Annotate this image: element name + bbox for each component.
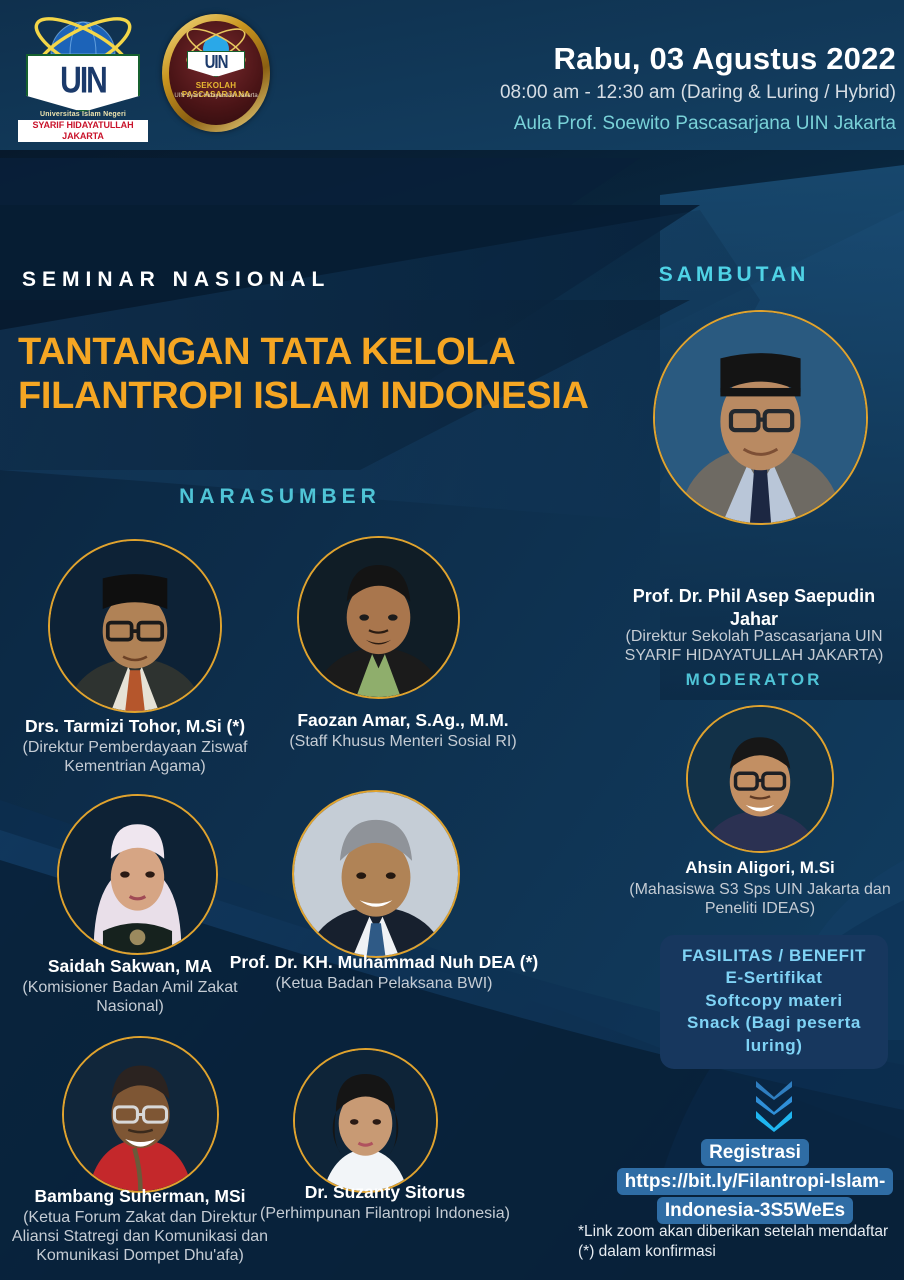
portrait-muhammad-nuh [294, 792, 458, 956]
sps-wordmark: UIN [205, 52, 228, 72]
uin-logo: UIN Universitas Islam Negeri SYARIF HIDA… [18, 6, 148, 138]
event-time: 08:00 am - 12:30 am (Daring & Luring / H… [376, 82, 896, 104]
narasumber-2-name: Faozan Amar, S.Ag., M.M. [268, 710, 538, 731]
avatar-narasumber-4 [292, 790, 460, 958]
event-meta: Rabu, 03 Agustus 2022 08:00 am - 12:30 a… [376, 42, 896, 135]
narasumber-3-role: (Komisioner Badan Amil Zakat Nasional) [0, 978, 260, 1016]
page-title: TANTANGAN TATA KELOLA FILANTROPI ISLAM I… [18, 330, 658, 418]
registration-footnote: *Link zoom akan diberikan setelah mendaf… [578, 1222, 904, 1262]
narasumber-4-role: (Ketua Badan Pelaksana BWI) [244, 974, 524, 993]
poster-header: UIN Universitas Islam Negeri SYARIF HIDA… [0, 0, 904, 170]
avatar-narasumber-1 [48, 539, 222, 713]
narasumber-5-role: (Ketua Forum Zakat dan Direktur Aliansi … [0, 1208, 280, 1266]
sps-shield: UIN [187, 51, 245, 77]
narasumber-3-name: Saidah Sakwan, MA [0, 956, 260, 977]
narasumber-6-role: (Perhimpunan Filantropi Indonesia) [250, 1204, 520, 1223]
sambutan-heading: SAMBUTAN [564, 263, 904, 287]
avatar-narasumber-6 [293, 1048, 438, 1193]
uin-wordmark: UIN [60, 60, 106, 103]
portrait-saidah-sakwan [59, 796, 216, 953]
fasilitas-item-2: Softcopy materi [668, 990, 880, 1012]
uin-caption-bottom: SYARIF HIDAYATULLAH JAKARTA [18, 120, 148, 142]
sps-logo-inner: UIN SEKOLAH PASCASARJANA UIN Syarif Hida… [169, 21, 263, 125]
sps-logo: UIN SEKOLAH PASCASARJANA UIN Syarif Hida… [158, 6, 274, 138]
narasumber-1-role: (Direktur Pemberdayaan Ziswaf Kementrian… [0, 738, 270, 776]
title-line-2: FILANTROPI ISLAM INDONESIA [18, 374, 658, 418]
registration-label: Registrasi [701, 1139, 809, 1166]
seminar-poster: UIN Universitas Islam Negeri SYARIF HIDA… [0, 0, 904, 1280]
narasumber-6-name: Dr. Suzanty Sitorus [250, 1182, 520, 1203]
moderator-name: Ahsin Aligori, M.Si [630, 858, 890, 878]
portrait-faozan-amar [299, 538, 458, 697]
sambutan-role: (Direktur Sekolah Pascasarjana UIN SYARI… [608, 627, 900, 665]
event-date: Rabu, 03 Agustus 2022 [376, 42, 896, 76]
event-venue: Aula Prof. Soewito Pascasarjana UIN Jaka… [376, 113, 896, 135]
portrait-bambang-suherman [64, 1038, 217, 1191]
registration-url-line-1[interactable]: https://bit.ly/Filantropi-Islam- [617, 1168, 894, 1195]
portrait-suzanty-sitorus [295, 1050, 436, 1191]
moderator-role: (Mahasiswa S3 Sps UIN Jakarta dan Peneli… [614, 880, 904, 918]
registration-url-line-2[interactable]: Indonesia-3S5WeEs [657, 1197, 853, 1224]
fasilitas-benefit-box: FASILITAS / BENEFIT E-Sertifikat Softcop… [660, 935, 888, 1069]
seminar-kicker: SEMINAR NASIONAL [22, 268, 330, 292]
moderator-heading: MODERATOR [604, 670, 904, 690]
avatar-narasumber-5 [62, 1036, 219, 1193]
narasumber-4-name: Prof. Dr. KH. Muhammad Nuh DEA (*) [224, 952, 544, 973]
narasumber-2-role: (Staff Khusus Menteri Sosial RI) [268, 732, 538, 751]
fasilitas-title: FASILITAS / BENEFIT [668, 945, 880, 967]
registration-block: Registrasi https://bit.ly/Filantropi-Isl… [610, 1138, 900, 1225]
sps-line2: UIN Syarif Hidayatullah Jakarta [169, 93, 263, 100]
fasilitas-item-3: Snack (Bagi peserta luring) [668, 1012, 880, 1057]
uin-shield: UIN [26, 54, 140, 112]
uin-caption-top: Universitas Islam Negeri [18, 111, 148, 118]
avatar-sambutan [653, 310, 868, 525]
portrait-tarmizi-tohor [50, 541, 220, 711]
portrait-asep-saepudin [655, 312, 866, 523]
title-line-1: TANTANGAN TATA KELOLA [18, 330, 658, 374]
footnote-line-2: (*) dalam konfirmasi [578, 1242, 904, 1262]
avatar-moderator [686, 705, 834, 853]
footnote-line-1: *Link zoom akan diberikan setelah mendaf… [578, 1222, 904, 1242]
portrait-ahsin-aligori [688, 707, 832, 851]
narasumber-heading: NARASUMBER [0, 485, 560, 509]
narasumber-5-name: Bambang Suherman, MSi [0, 1186, 280, 1207]
chevron-down-icon [754, 1108, 794, 1132]
chevron-group [744, 1085, 804, 1132]
sambutan-name: Prof. Dr. Phil Asep Saepudin Jahar [604, 585, 904, 630]
avatar-narasumber-2 [297, 536, 460, 699]
avatar-narasumber-3 [57, 794, 218, 955]
narasumber-1-name: Drs. Tarmizi Tohor, M.Si (*) [0, 716, 270, 737]
fasilitas-item-1: E-Sertifikat [668, 967, 880, 989]
logo-group: UIN Universitas Islam Negeri SYARIF HIDA… [18, 6, 274, 138]
